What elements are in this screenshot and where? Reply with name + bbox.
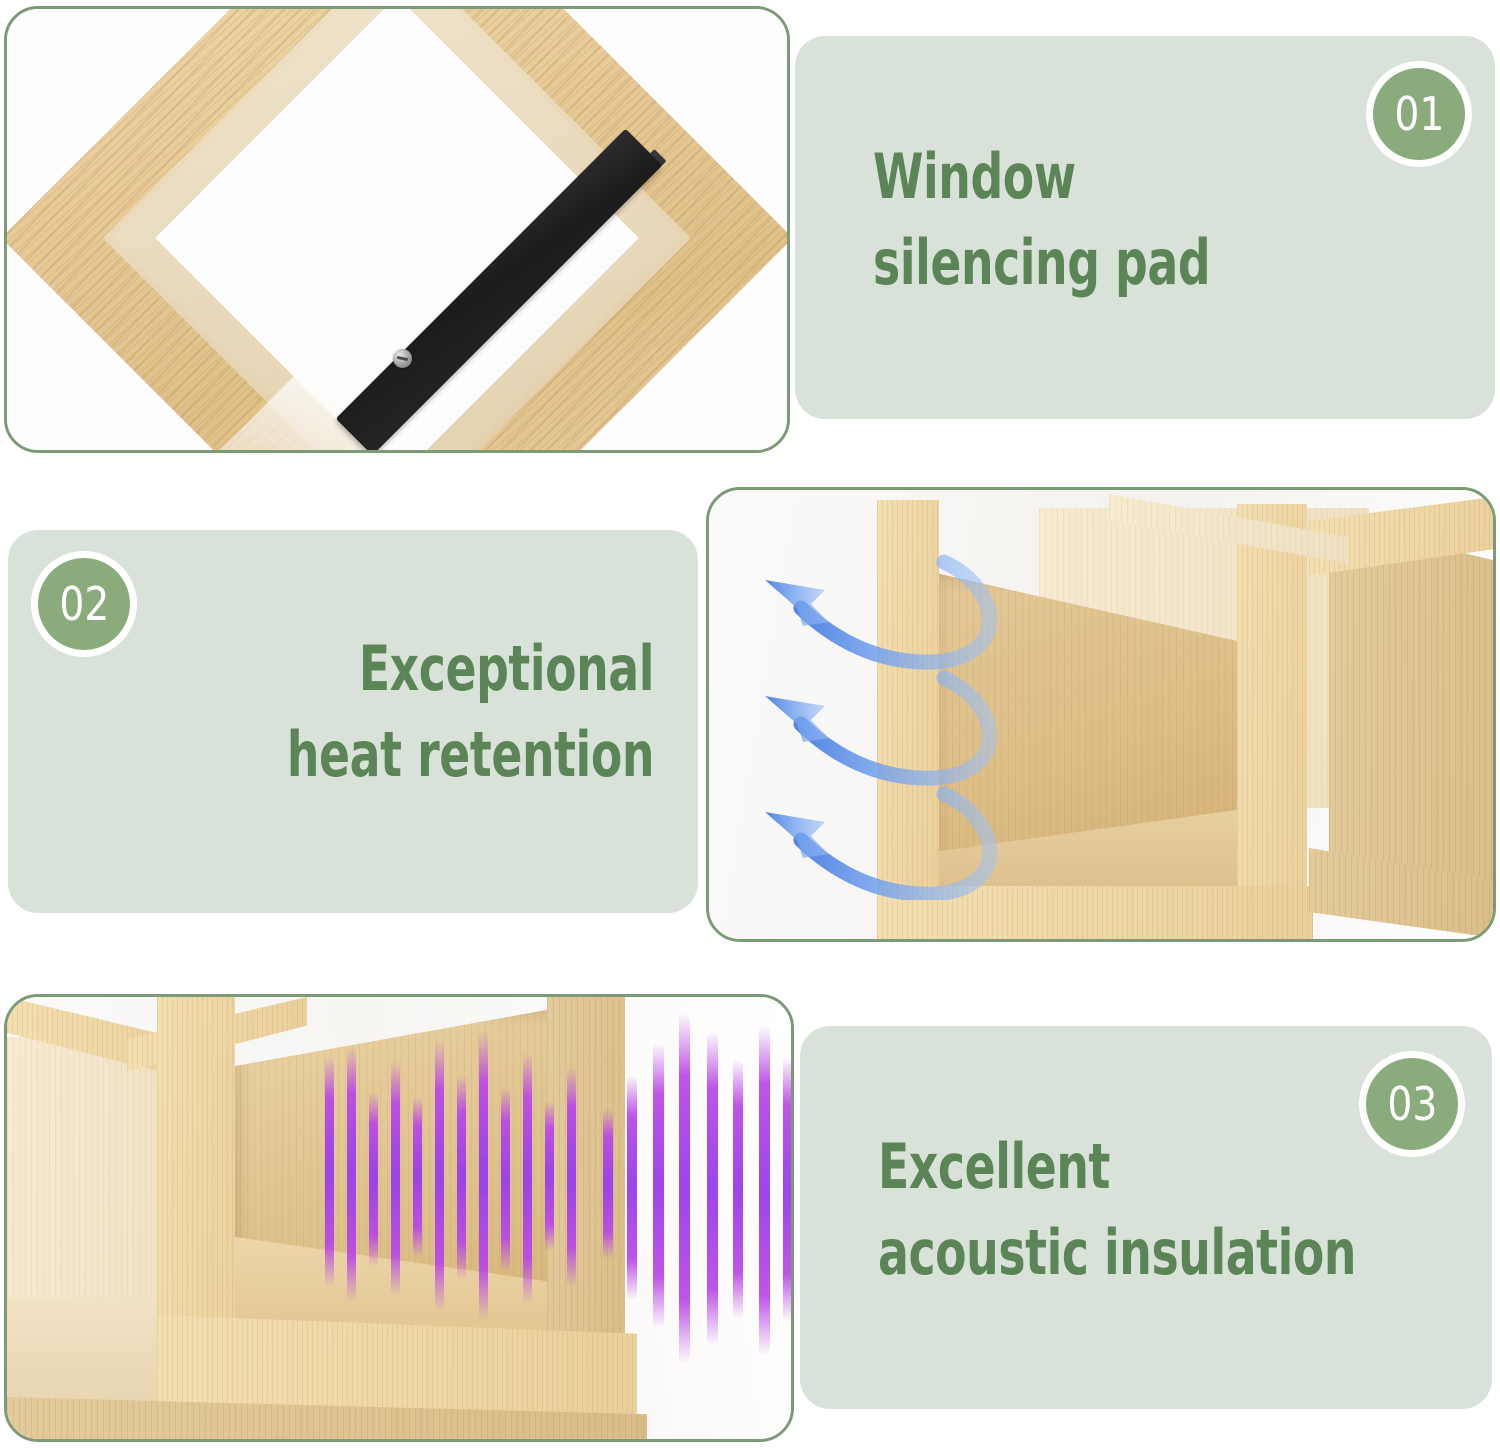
- screw-icon: [393, 349, 412, 368]
- feature-01-text-card: 01 Windowsilencing pad: [795, 36, 1495, 419]
- feature-01-number-label: 01: [1394, 87, 1444, 141]
- feature-02-photo-card: [706, 487, 1496, 942]
- feature-03-text-card: 03 Excellentacoustic insulation: [800, 1026, 1492, 1409]
- feature-03-photo-card: [4, 994, 794, 1442]
- feature-02-text-card: 02 Exceptionalheat retention: [8, 530, 698, 913]
- feature-01-title-line2: silencing pad: [873, 226, 1210, 299]
- heat-flow-arrows: [759, 550, 1099, 900]
- feature-02-title: Exceptionalheat retention: [0, 626, 654, 797]
- feature-03-number-label: 03: [1387, 1077, 1437, 1131]
- wood-corner-with-black-silencing-pad-photo: [7, 9, 787, 450]
- feature-02-title-line2: heat retention: [287, 718, 654, 791]
- feature-02-number-label: 02: [59, 577, 109, 631]
- cat-house-front-right-post: [1237, 504, 1307, 939]
- feature-01-title-line1: Window: [873, 140, 1076, 213]
- wood-cat-house-acoustic-insulation-photo: [7, 997, 791, 1439]
- feature-03-title-line2: acoustic insulation: [878, 1216, 1356, 1289]
- feature-02-title-line1: Exceptional: [359, 632, 654, 705]
- feature-03-title-line1: Excellent: [878, 1130, 1110, 1203]
- feature-01-photo-card: [4, 6, 790, 453]
- wood-cat-house-heat-retention-photo: [709, 490, 1493, 939]
- feature-01-title: Windowsilencing pad: [873, 134, 1500, 305]
- feature-03-title: Excellentacoustic insulation: [878, 1124, 1500, 1295]
